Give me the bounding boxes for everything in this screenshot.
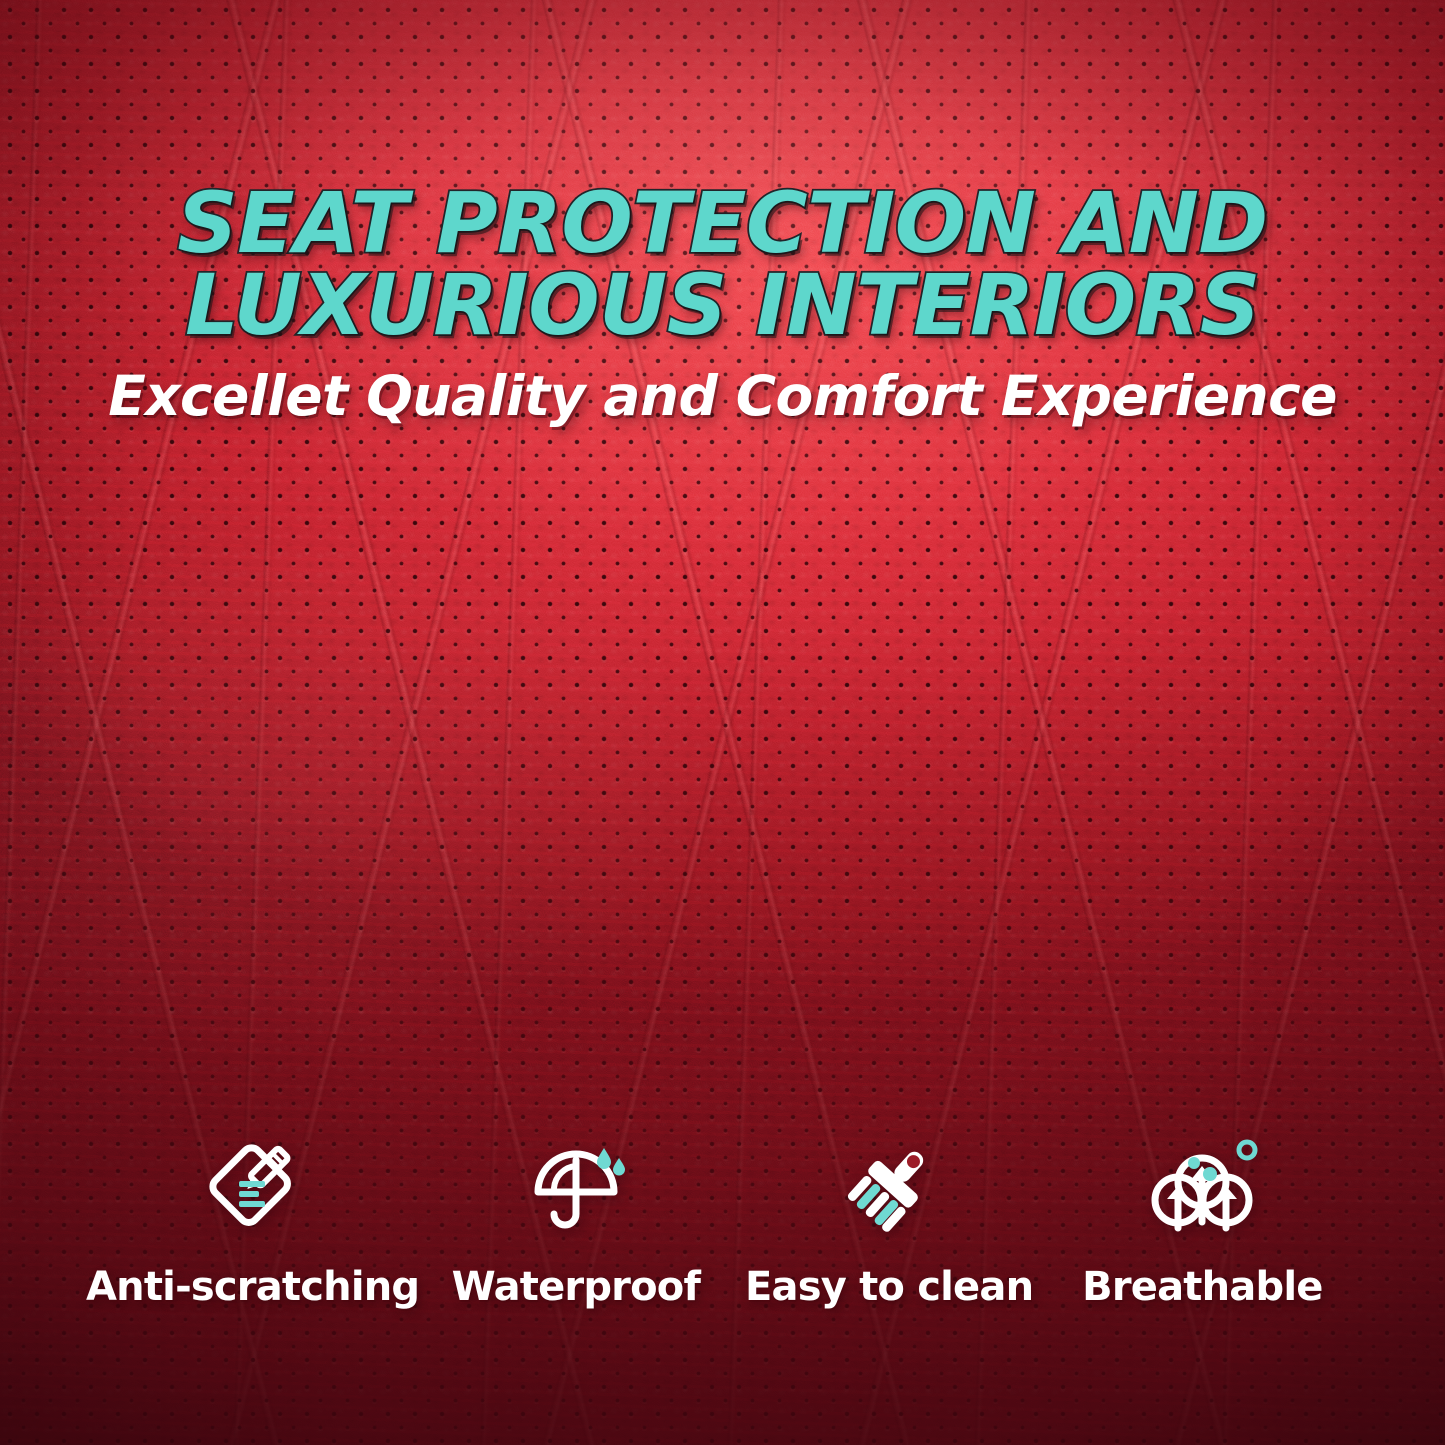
headline-line-1: SEAT PROTECTION AND	[0, 182, 1445, 264]
product-feature-poster: SEAT PROTECTION AND LUXURIOUS INTERIORS …	[0, 0, 1445, 1445]
cleaning-brush-icon	[819, 1120, 959, 1255]
scratch-card-pen-icon	[183, 1120, 323, 1255]
headline-block: SEAT PROTECTION AND LUXURIOUS INTERIORS …	[0, 182, 1445, 424]
headline-line-2: LUXURIOUS INTERIORS	[0, 264, 1445, 346]
feature-item-anti-scratching: Anti-scratching	[86, 1120, 419, 1307]
breathable-airflow-icon	[1132, 1120, 1272, 1255]
subheadline: Excellet Quality and Comfort Experience	[0, 369, 1445, 424]
feature-list: Anti-scratching	[86, 1120, 1359, 1307]
page-title: SEAT PROTECTION AND LUXURIOUS INTERIORS	[0, 182, 1445, 347]
feature-label-anti-scratching: Anti-scratching	[86, 1267, 419, 1307]
feature-label-waterproof: Waterproof	[452, 1267, 700, 1307]
feature-label-easy-to-clean: Easy to clean	[745, 1267, 1033, 1307]
feature-item-waterproof: Waterproof	[419, 1120, 732, 1307]
feature-item-easy-to-clean: Easy to clean	[733, 1120, 1046, 1307]
feature-item-breathable: Breathable	[1046, 1120, 1359, 1307]
feature-label-breathable: Breathable	[1082, 1267, 1322, 1307]
poster-content: SEAT PROTECTION AND LUXURIOUS INTERIORS …	[0, 0, 1445, 1445]
umbrella-raindrops-icon	[506, 1120, 646, 1255]
